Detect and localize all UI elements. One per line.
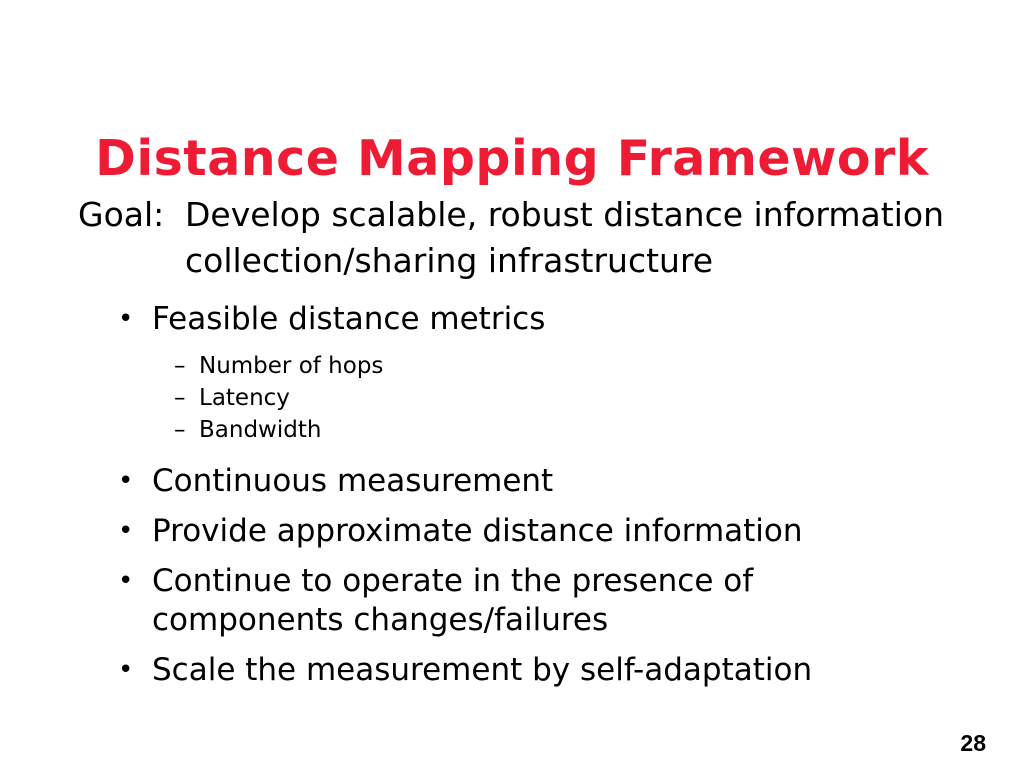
list-item: • Continue to operate in the presence of… [118,562,918,640]
bullet-dash-icon: – [174,414,199,446]
goal-statement: Goal: Develop scalable, robust distance … [78,192,998,284]
goal-row: Goal: Develop scalable, robust distance … [78,192,998,284]
sub-list-item: – Number of hops [174,350,918,382]
list-item-label: Feasible distance metrics [152,300,852,339]
bullet-dash-icon: – [174,382,199,414]
list-item: • Continuous measurement [118,462,918,501]
list-item: • Scale the measurement by self-adaptati… [118,651,918,690]
slide-canvas: Distance Mapping Framework Goal: Develop… [0,0,1024,768]
list-item-label: Provide approximate distance information [152,512,852,551]
bullet-dot-icon: • [118,562,152,601]
list-item: • Provide approximate distance informati… [118,512,918,551]
bullet-dot-icon: • [118,651,152,690]
goal-text: Develop scalable, robust distance inform… [185,192,975,284]
bullet-dot-icon: • [118,512,152,551]
sub-list-item-label: Latency [199,382,918,414]
list-item-label: Continue to operate in the presence of c… [152,562,852,640]
goal-label: Goal: [78,192,185,238]
bullet-list: • Feasible distance metrics – Number of … [118,300,918,701]
list-item-label: Scale the measurement by self-adaptation [152,651,852,690]
bullet-dot-icon: • [118,300,152,339]
bullet-dash-icon: – [174,350,199,382]
sub-list-item-label: Bandwidth [199,414,918,446]
page-title: Distance Mapping Framework [0,129,1024,189]
page-number: 28 [960,730,986,756]
sub-list-item: – Latency [174,382,918,414]
sub-list-item-label: Number of hops [199,350,918,382]
list-item-label: Continuous measurement [152,462,852,501]
sub-list-item: – Bandwidth [174,414,918,446]
bullet-dot-icon: • [118,462,152,501]
sub-bullet-list: – Number of hops – Latency – Bandwidth [118,350,918,446]
list-item: • Feasible distance metrics [118,300,918,339]
